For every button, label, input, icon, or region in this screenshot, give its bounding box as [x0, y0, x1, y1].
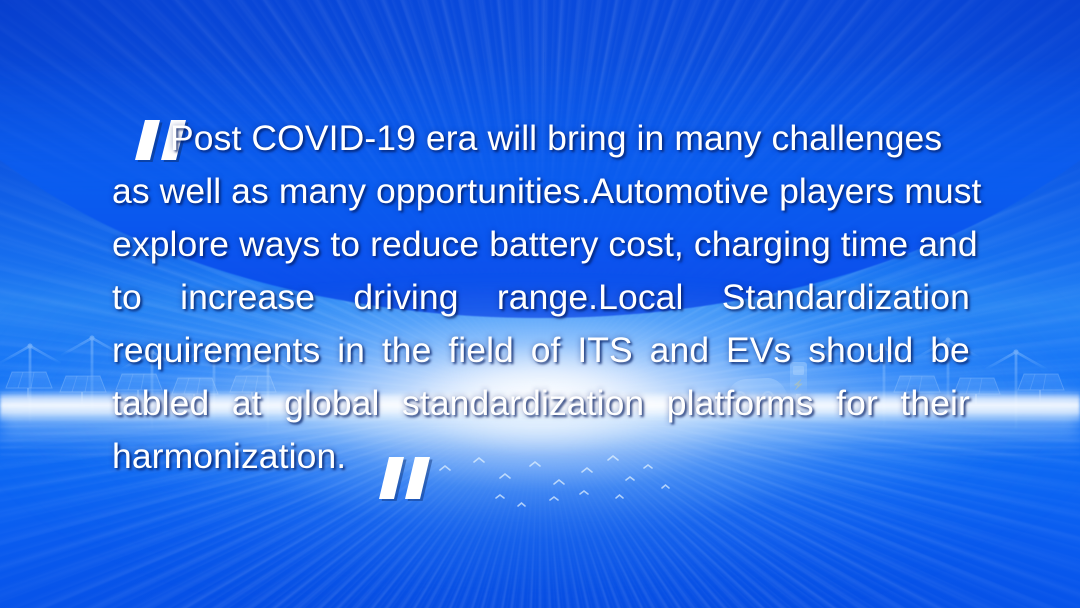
quote-line-1-text: Post COVID-19 era will bring in many cha… — [170, 118, 942, 158]
quote-line-7: harmonization. — [112, 430, 970, 483]
quote-line-3-text: explore ways to reduce battery cost, cha… — [112, 224, 978, 264]
quote-line-3: explore ways to reduce battery cost, cha… — [112, 218, 970, 271]
quote-line-6-word: global — [284, 377, 379, 430]
quote-line-5-word: requirements — [112, 324, 320, 377]
close-quote-icon — [377, 455, 439, 501]
quote-line-5-word: and — [650, 324, 710, 377]
quote-line-7-text: harmonization. — [112, 436, 346, 476]
quote-line-4-word: Standardization — [722, 271, 970, 324]
quote-text-block: Post COVID-19 era will bring in many cha… — [112, 112, 970, 483]
quote-line-6-word: at — [232, 377, 262, 430]
quote-line-6-word: their — [900, 377, 970, 430]
quote-line-5: requirements in the field of ITS and EVs… — [112, 324, 970, 377]
quote-line-5-word: the — [382, 324, 432, 377]
quote-line-5-word: in — [337, 324, 365, 377]
quote-line-4-word: driving — [353, 271, 458, 324]
quote-line-4-word: to — [112, 271, 142, 324]
quote-line-5-word: of — [531, 324, 561, 377]
quote-line-2-text: as well as many opportunities.Automotive… — [112, 171, 982, 211]
quote-line-6-word: tabled — [112, 377, 209, 430]
quote-line-1: Post COVID-19 era will bring in many cha… — [112, 112, 970, 165]
quote-line-4-word: increase — [180, 271, 315, 324]
quote-line-4: to increase driving range.Local Standard… — [112, 271, 970, 324]
quote-line-6-word: platforms — [667, 377, 814, 430]
quote-line-5-word: be — [930, 324, 970, 377]
quote-line-5-word: field — [448, 324, 514, 377]
quote-line-6-word: for — [836, 377, 878, 430]
quote-line-5-word: ITS — [577, 324, 633, 377]
quote-line-2: as well as many opportunities.Automotive… — [112, 165, 970, 218]
quote-slide: ⚡ — [0, 0, 1080, 608]
quote-line-5-word: EVs — [726, 324, 791, 377]
quote-line-6-word: standardization — [402, 377, 644, 430]
quote-line-6: tabled at global standardization platfor… — [112, 377, 970, 430]
quote-line-4-word: range.Local — [497, 271, 684, 324]
quote-line-5-word: should — [808, 324, 913, 377]
